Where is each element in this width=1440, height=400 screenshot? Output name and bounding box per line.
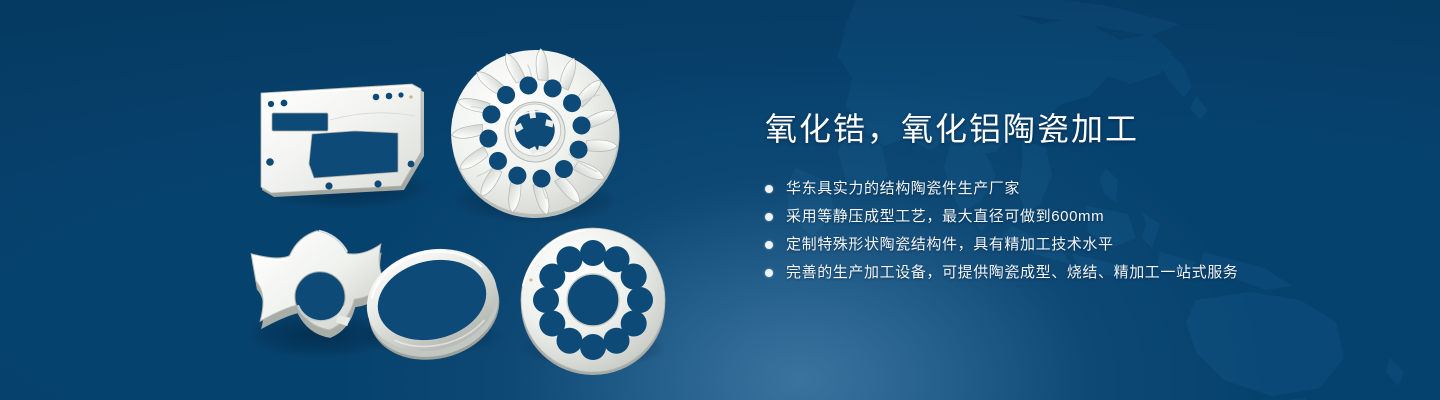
feature-list-item: 定制特殊形状陶瓷结构件，具有精加工技术水平 [765, 232, 1385, 257]
feature-text: 定制特殊形状陶瓷结构件，具有精加工技术水平 [786, 232, 1114, 257]
feature-text: 采用等静压成型工艺，最大直径可做到600mm [786, 204, 1104, 229]
bullet-dot-icon [765, 185, 773, 193]
feature-text: 华东具实力的结构陶瓷件生产厂家 [786, 176, 1020, 201]
promo-banner: 氧化锆，氧化铝陶瓷加工 华东具实力的结构陶瓷件生产厂家 采用等静压成型工艺，最大… [0, 0, 1440, 400]
ceramic-products-image [0, 0, 720, 400]
ceramic-perforated-disc-shape [521, 228, 665, 375]
bullet-dot-icon [765, 269, 773, 277]
ceramic-machined-plate-shape [261, 84, 424, 197]
feature-text: 完善的生产加工设备，可提供陶瓷成型、烧结、精加工一站式服务 [786, 260, 1238, 285]
feature-list-item: 采用等静压成型工艺，最大直径可做到600mm [765, 204, 1385, 229]
bullet-dot-icon [765, 213, 773, 221]
feature-list-item: 完善的生产加工设备，可提供陶瓷成型、烧结、精加工一站式服务 [765, 260, 1385, 285]
feature-list-item: 华东具实力的结构陶瓷件生产厂家 [765, 176, 1385, 201]
banner-copy: 氧化锆，氧化铝陶瓷加工 华东具实力的结构陶瓷件生产厂家 采用等静压成型工艺，最大… [765, 108, 1385, 288]
banner-headline: 氧化锆，氧化铝陶瓷加工 [765, 108, 1385, 150]
feature-list: 华东具实力的结构陶瓷件生产厂家 采用等静压成型工艺，最大直径可做到600mm 定… [765, 176, 1385, 285]
bullet-dot-icon [765, 241, 773, 249]
